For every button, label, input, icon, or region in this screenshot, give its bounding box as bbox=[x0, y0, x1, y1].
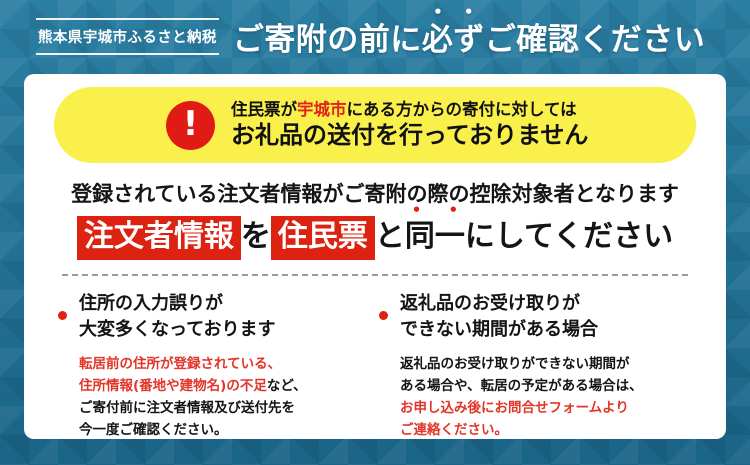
notice-column-delivery-period: 返礼品のお受け取りが できない期間がある場合 返礼品のお受け取りができない期間が… bbox=[379, 291, 700, 442]
column-body: 返礼品のお受け取りが できない期間がある場合 返礼品のお受け取りができない期間が… bbox=[400, 291, 700, 442]
statement-connector-1: を bbox=[241, 219, 271, 254]
column-heading-line-2: 大変多くなっております bbox=[79, 317, 379, 343]
paragraph-segment: 返礼品のお受け取りができない期間が bbox=[400, 356, 630, 372]
tax-donation-notice-banner: 熊本県宇城市ふるさと納税 ご寄附の前に必ずご確認ください ! 住民票が宇城市にあ… bbox=[0, 0, 750, 465]
notice-columns: 住所の入力誤りが 大変多くなっております 転居前の住所が登録されている、 住所情… bbox=[58, 291, 700, 442]
alert-city-highlight: 宇城市 bbox=[297, 100, 347, 119]
paragraph-segment: ある場合や、転居の予定がある場合は、 bbox=[400, 378, 643, 394]
alert-banner: ! 住民票が宇城市にある方からの寄付に対しては お礼品の送付を行っておりません bbox=[54, 87, 696, 163]
alert-text-block: 住民票が宇城市にある方からの寄付に対しては お礼品の送付を行っておりません bbox=[231, 100, 588, 150]
paragraph-line: お申し込み後にお問合せフォームより bbox=[400, 398, 700, 420]
paragraph-line: ご寄付前に注文者情報及び送付先を bbox=[79, 398, 379, 420]
statement-primary: 登録されている注文者情報がご寄附の際の控除対象者となります bbox=[24, 178, 726, 208]
column-paragraph: 転居前の住所が登録されている、 住所情報(番地や建物名)の不足など、 ご寄付前に… bbox=[79, 354, 379, 441]
exclamation-glyph: ! bbox=[183, 107, 199, 141]
paragraph-line: ある場合や、転居の予定がある場合は、 bbox=[400, 376, 700, 398]
alert-line-1: 住民票が宇城市にある方からの寄付に対しては bbox=[231, 100, 588, 121]
brand-rule-top bbox=[36, 18, 219, 20]
statement-identical-emphasis: 同一 bbox=[405, 219, 465, 254]
paragraph-line: 住所情報(番地や建物名)の不足など、 bbox=[79, 376, 379, 398]
paragraph-segment: ご寄付前に注文者情報及び送付先を bbox=[79, 400, 295, 416]
column-heading-line-1: 返礼品のお受け取りが bbox=[400, 291, 700, 317]
alert-line1-part1: 住民票が bbox=[231, 100, 297, 119]
brand-block: 熊本県宇城市ふるさと納税 bbox=[36, 18, 219, 55]
notice-card: ! 住民票が宇城市にある方からの寄付に対しては お礼品の送付を行っておりません … bbox=[24, 74, 726, 439]
alert-line-2: お礼品の送付を行っておりません bbox=[231, 121, 588, 150]
red-dot-bullet-icon bbox=[58, 311, 67, 320]
banner-header: 熊本県宇城市ふるさと納税 ご寄附の前に必ずご確認ください bbox=[0, 0, 750, 72]
brand-label: 熊本県宇城市ふるさと納税 bbox=[36, 20, 219, 53]
column-body: 住所の入力誤りが 大変多くなっております 転居前の住所が登録されている、 住所情… bbox=[79, 291, 379, 442]
badge-orderer-info: 注文者情報 bbox=[77, 216, 241, 260]
statement-tail: にしてください bbox=[465, 219, 673, 254]
paragraph-segment: 住所情報(番地や建物名)の不足 bbox=[79, 378, 267, 394]
red-dot-bullet-icon bbox=[379, 311, 388, 320]
headline-text-after: ご確認ください bbox=[485, 22, 706, 58]
paragraph-segment: など、 bbox=[267, 378, 307, 394]
statement-emphasis: 注文者情報を住民票と同一にしてください bbox=[24, 216, 726, 260]
brand-rule-bottom bbox=[36, 53, 219, 55]
paragraph-line: ご連絡ください。 bbox=[400, 420, 700, 442]
column-heading-line-1: 住所の入力誤りが bbox=[79, 291, 379, 317]
exclamation-icon: ! bbox=[166, 101, 215, 150]
paragraph-line: 返礼品のお受け取りができない期間が bbox=[400, 354, 700, 376]
page-title: ご寄附の前に必ずご確認ください bbox=[233, 14, 706, 59]
headline-wrap: ご寄附の前に必ずご確認ください bbox=[233, 14, 750, 59]
statement-connector-2: と bbox=[375, 219, 405, 254]
paragraph-line: 今一度ご確認ください。 bbox=[79, 420, 379, 442]
paragraph-segment: 今一度ご確認ください。 bbox=[79, 422, 228, 438]
paragraph-segment: ご連絡ください。 bbox=[400, 422, 508, 438]
column-heading-line-2: できない期間がある場合 bbox=[400, 317, 700, 343]
paragraph-segment: 転居前の住所が登録されている、 bbox=[79, 356, 281, 372]
notice-column-address-errors: 住所の入力誤りが 大変多くなっております 転居前の住所が登録されている、 住所情… bbox=[58, 291, 379, 442]
column-heading: 返礼品のお受け取りが できない期間がある場合 bbox=[400, 291, 700, 343]
badge-residence-certificate: 住民票 bbox=[271, 216, 375, 260]
paragraph-segment: お申し込み後にお問合せフォームより bbox=[400, 400, 629, 416]
column-paragraph: 返礼品のお受け取りができない期間が ある場合や、転居の予定がある場合は、 お申し… bbox=[400, 354, 700, 441]
alert-line1-part2: にある方からの寄付に対しては bbox=[347, 100, 577, 119]
paragraph-line: 転居前の住所が登録されている、 bbox=[79, 354, 379, 376]
headline-emphasis: 必ず bbox=[422, 22, 485, 58]
headline-text-before: ご寄附の前に bbox=[233, 22, 422, 58]
section-divider bbox=[62, 274, 688, 276]
column-heading: 住所の入力誤りが 大変多くなっております bbox=[79, 291, 379, 343]
